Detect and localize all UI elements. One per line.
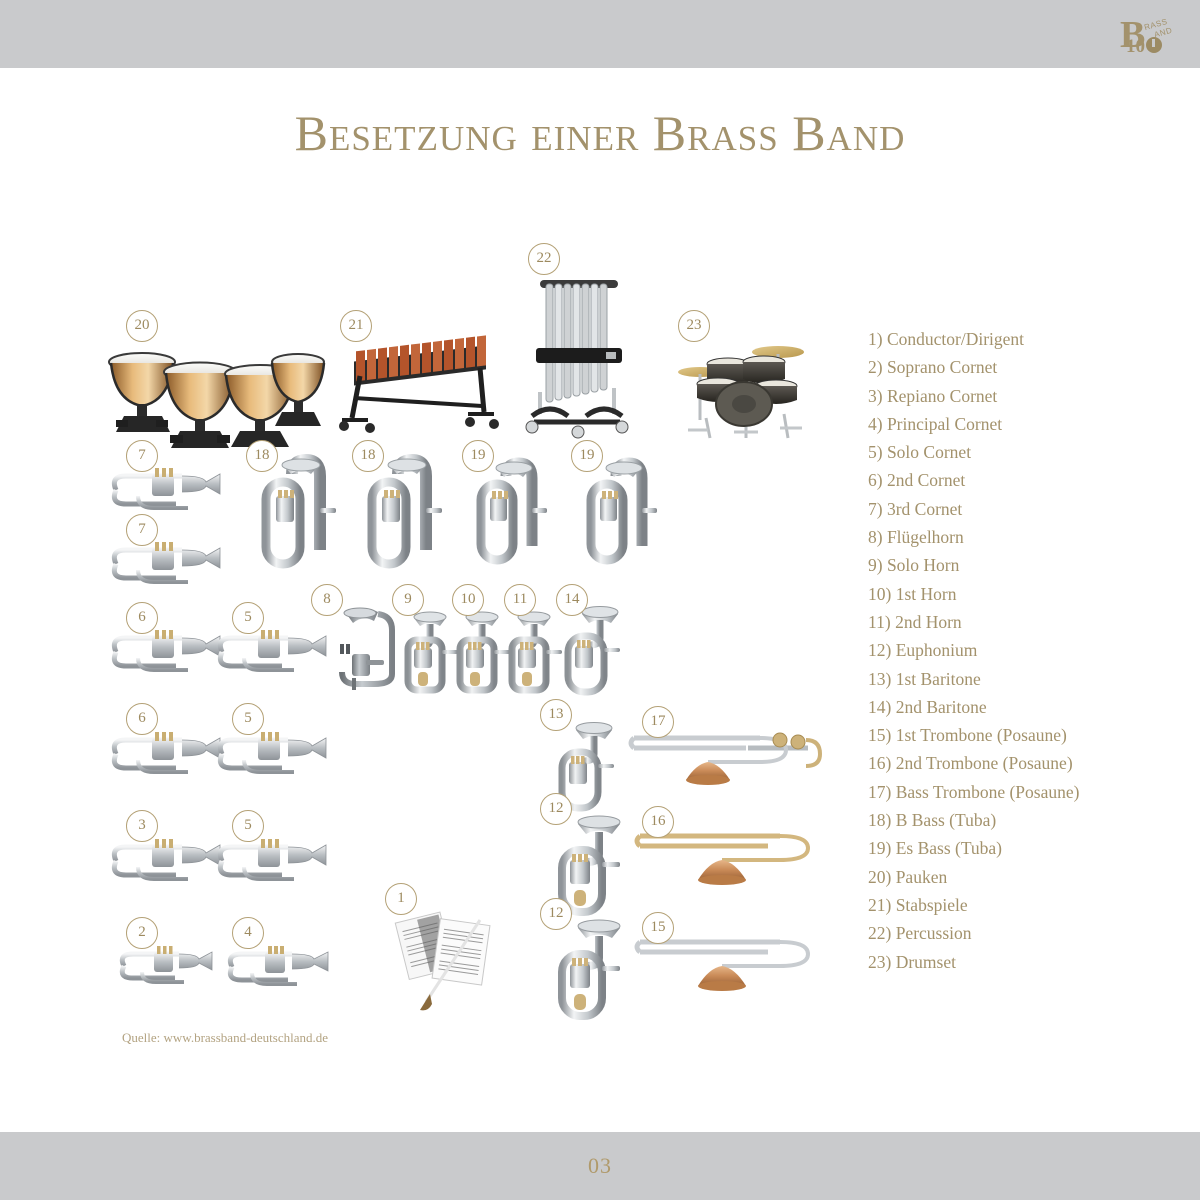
instrument-cornet — [108, 628, 224, 682]
instrument-cornet — [108, 466, 224, 520]
legend-item-label: 1st Baritone — [896, 669, 981, 689]
number-badge: 4 — [232, 917, 264, 949]
legend-item: 16) 2nd Trombone (Posaune) — [868, 749, 1138, 777]
legend-item: 7) 3rd Cornet — [868, 495, 1138, 523]
legend-item-label: Conductor/Dirigent — [887, 329, 1024, 349]
legend-item: 1) Conductor/Dirigent — [868, 325, 1138, 353]
legend-item-label: Flügelhorn — [887, 527, 964, 547]
number-badge: 20 — [126, 310, 158, 342]
number-badge: 10 — [452, 584, 484, 616]
legend-item-number: 19) — [868, 838, 891, 858]
number-badge: 11 — [504, 584, 536, 616]
number-badge: 13 — [540, 699, 572, 731]
legend-item-number: 9) — [868, 555, 883, 575]
number-badge: 19 — [571, 440, 603, 472]
legend-item: 12) Euphonium — [868, 636, 1138, 664]
legend-item: 8) Flügelhorn — [868, 523, 1138, 551]
legend-item: 6) 2nd Cornet — [868, 466, 1138, 494]
legend-item-label: 3rd Cornet — [887, 499, 962, 519]
number-badge: 18 — [246, 440, 278, 472]
instrument-cornet — [108, 837, 224, 891]
legend-item-number: 13) — [868, 669, 891, 689]
number-badge: 14 — [556, 584, 588, 616]
legend-item-label: Soprano Cornet — [887, 357, 997, 377]
legend-item-label: 2nd Baritone — [896, 697, 987, 717]
legend-item: 10) 1st Horn — [868, 580, 1138, 608]
legend-item: 3) Repiano Cornet — [868, 382, 1138, 410]
legend-item: 18) B Bass (Tuba) — [868, 806, 1138, 834]
number-badge: 18 — [352, 440, 384, 472]
legend-item-number: 15) — [868, 725, 891, 745]
legend-item: 2) Soprano Cornet — [868, 353, 1138, 381]
legend-item-label: 1st Trombone (Posaune) — [896, 725, 1067, 745]
legend-item-number: 16) — [868, 753, 891, 773]
legend-item: 13) 1st Baritone — [868, 665, 1138, 693]
legend-item-number: 17) — [868, 782, 891, 802]
source-note: Quelle: www.brassband-deutschland.de — [122, 1030, 328, 1046]
legend-item-label: Pauken — [896, 867, 948, 887]
number-badge: 1 — [385, 883, 417, 915]
legend-item: 20) Pauken — [868, 863, 1138, 891]
legend-item-number: 22) — [868, 923, 891, 943]
instrument-tenor-horn — [504, 606, 568, 696]
header-band: B RASS AND 10 — [0, 0, 1200, 68]
legend-item: 21) Stabspiele — [868, 891, 1138, 919]
number-badge: 16 — [642, 806, 674, 838]
footer-band: 03 — [0, 1132, 1200, 1200]
legend-item: 9) Solo Horn — [868, 551, 1138, 579]
instrument-xylophone — [334, 336, 502, 441]
legend-item-number: 6) — [868, 470, 883, 490]
instrument-cornet — [214, 837, 330, 891]
instrument-cornet — [214, 730, 330, 784]
instrument-tubular-bells — [518, 270, 636, 442]
number-badge: 5 — [232, 810, 264, 842]
page-title: Besetzung einer Brass Band — [0, 104, 1200, 162]
number-badge: 12 — [540, 898, 572, 930]
legend-item-label: Es Bass (Tuba) — [896, 838, 1002, 858]
number-badge: 22 — [528, 243, 560, 275]
legend-item-label: Stabspiele — [896, 895, 968, 915]
instrument-tuba — [582, 456, 662, 566]
number-badge: 6 — [126, 703, 158, 735]
number-badge: 21 — [340, 310, 372, 342]
legend-item: 22) Percussion — [868, 919, 1138, 947]
number-badge: 17 — [642, 706, 674, 738]
number-badge: 23 — [678, 310, 710, 342]
number-badge: 12 — [540, 793, 572, 825]
legend-item-label: 2nd Cornet — [887, 470, 965, 490]
legend-item-number: 7) — [868, 499, 883, 519]
instrument-timpani — [104, 336, 319, 441]
instrument-drumset — [676, 330, 816, 442]
brand-logo: B RASS AND 10 — [1120, 14, 1182, 56]
legend-item-number: 8) — [868, 527, 883, 547]
legend-item-number: 20) — [868, 867, 891, 887]
instrument-cornet — [224, 944, 332, 994]
legend-item: 15) 1st Trombone (Posaune) — [868, 721, 1138, 749]
legend-item-number: 10) — [868, 584, 891, 604]
legend-item-label: Percussion — [896, 923, 972, 943]
legend-item-label: Bass Trombone (Posaune) — [896, 782, 1080, 802]
legend-item-number: 5) — [868, 442, 883, 462]
legend-item-number: 11) — [868, 612, 891, 632]
legend-item: 14) 2nd Baritone — [868, 693, 1138, 721]
legend-item: 17) Bass Trombone (Posaune) — [868, 778, 1138, 806]
page-number: 03 — [588, 1153, 612, 1179]
instrument-tuba — [472, 456, 552, 566]
instrument-conductor-score — [396, 906, 506, 1014]
legend-item-label: B Bass (Tuba) — [896, 810, 996, 830]
number-badge: 7 — [126, 514, 158, 546]
logo-number-ten: 10 — [1126, 36, 1145, 58]
legend-item-number: 3) — [868, 386, 883, 406]
legend-item: 5) Solo Cornet — [868, 438, 1138, 466]
instrument-flugelhorn — [326, 600, 406, 696]
legend-item: 11) 2nd Horn — [868, 608, 1138, 636]
logo-disc-icon — [1146, 37, 1162, 53]
legend-item-number: 12) — [868, 640, 891, 660]
legend-item-number: 4) — [868, 414, 883, 434]
legend-item-number: 21) — [868, 895, 891, 915]
number-badge: 6 — [126, 602, 158, 634]
instrument-cornet — [108, 730, 224, 784]
legend-item-label: Solo Horn — [887, 555, 959, 575]
legend-list: 1) Conductor/Dirigent2) Soprano Cornet3)… — [868, 325, 1138, 976]
legend-item-label: 2nd Trombone (Posaune) — [896, 753, 1073, 773]
legend-item-label: Solo Cornet — [887, 442, 971, 462]
number-badge: 15 — [642, 912, 674, 944]
legend-item: 23) Drumset — [868, 948, 1138, 976]
legend-item-label: Drumset — [896, 952, 956, 972]
legend-item-label: Repiano Cornet — [887, 386, 997, 406]
legend-item-label: Principal Cornet — [887, 414, 1002, 434]
number-badge: 9 — [392, 584, 424, 616]
legend-item-number: 1) — [868, 329, 883, 349]
instrument-cornet — [214, 628, 330, 682]
legend-item: 19) Es Bass (Tuba) — [868, 834, 1138, 862]
legend-item-label: 1st Horn — [896, 584, 957, 604]
number-badge: 8 — [311, 584, 343, 616]
number-badge: 19 — [462, 440, 494, 472]
number-badge: 3 — [126, 810, 158, 842]
instrument-soprano-cornet — [116, 944, 216, 992]
number-badge: 5 — [232, 602, 264, 634]
number-badge: 7 — [126, 440, 158, 472]
legend-item-number: 18) — [868, 810, 891, 830]
legend-item-number: 14) — [868, 697, 891, 717]
legend-item-label: 2nd Horn — [895, 612, 962, 632]
number-badge: 5 — [232, 703, 264, 735]
instrument-cornet — [108, 540, 224, 594]
number-badge: 2 — [126, 917, 158, 949]
legend-item-number: 2) — [868, 357, 883, 377]
legend-item: 4) Principal Cornet — [868, 410, 1138, 438]
instrument-euphonium — [552, 912, 634, 1020]
legend-item-label: Euphonium — [896, 640, 978, 660]
legend-item-number: 23) — [868, 952, 891, 972]
